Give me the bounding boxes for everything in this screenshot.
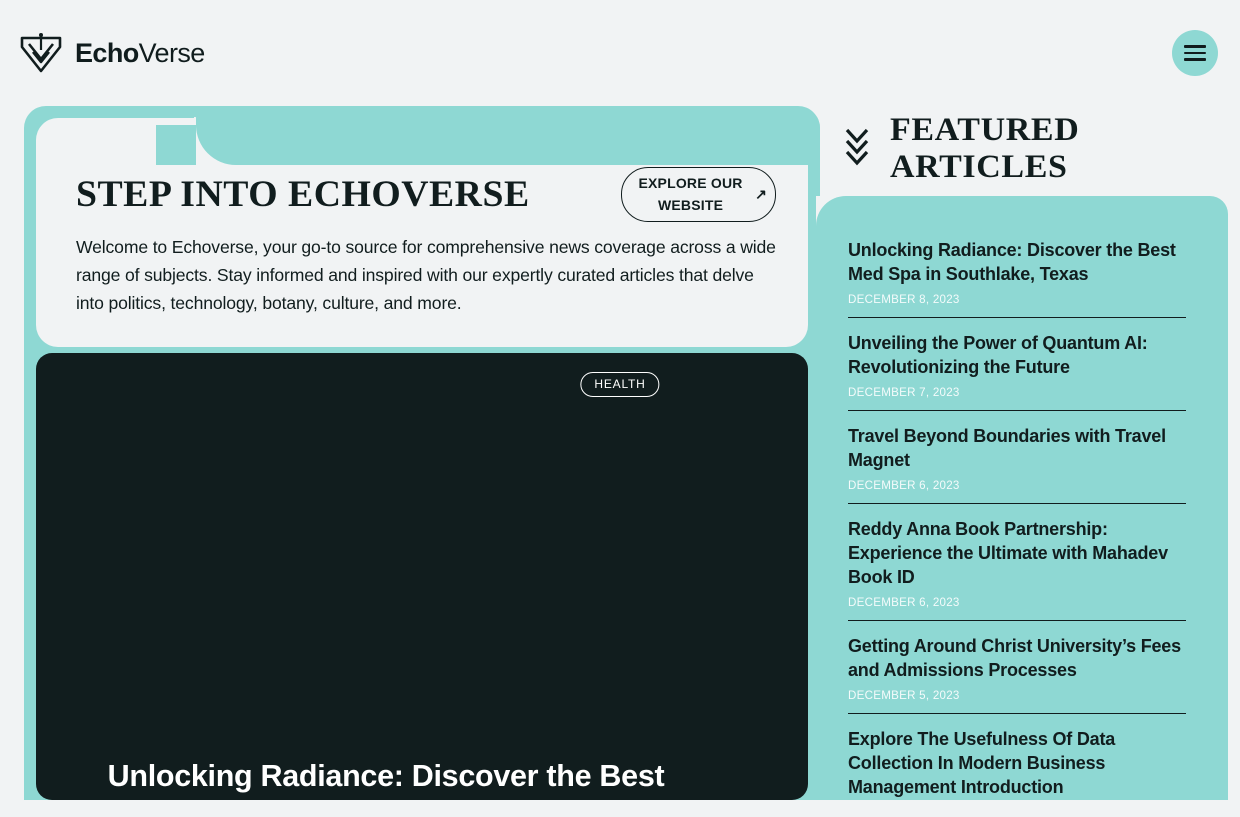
brand-text-strong: Echo [75,38,139,68]
article-date: DECEMBER 6, 2023 [848,479,1186,492]
brand-text: EchoVerse [75,40,205,67]
article-date: DECEMBER 7, 2023 [848,386,1186,399]
article-title[interactable]: Unlocking Radiance: Discover the Best Me… [848,238,1186,286]
brand-logo[interactable]: EchoVerse [18,30,205,76]
page-title: STEP INTO ECHOVERSE [76,176,530,213]
list-item[interactable]: Unlocking Radiance: Discover the Best Me… [848,236,1186,317]
article-title[interactable]: Reddy Anna Book Partnership: Experience … [848,517,1186,589]
article-date: DECEMBER 8, 2023 [848,293,1186,306]
article-title[interactable]: Travel Beyond Boundaries with Travel Mag… [848,424,1186,472]
featured-articles-title: FEATURED ARTICLES [890,112,1079,186]
list-item[interactable]: Getting Around Christ University’s Fees … [848,620,1186,713]
list-item[interactable]: Unveiling the Power of Quantum AI: Revol… [848,317,1186,410]
featured-articles-heading: FEATURED ARTICLES [844,112,1074,186]
hero-description: Welcome to Echoverse, your go-to source … [76,233,776,317]
hamburger-line [1184,45,1206,48]
page-root: EchoVerse STEP INTO ECHOVERSE EXPLORE OU… [0,0,1240,800]
arrow-up-right-icon: ↗ [755,184,767,206]
explore-website-button[interactable]: EXPLORE OUR WEBSITE↗ [621,167,776,222]
hero-title-row: STEP INTO ECHOVERSE EXPLORE OUR WEBSITE↗ [76,176,776,222]
article-title[interactable]: Unveiling the Power of Quantum AI: Revol… [848,331,1186,379]
feature-article-card[interactable] [36,353,808,800]
article-title[interactable]: Explore The Usefulness Of Data Collectio… [848,727,1186,799]
list-item[interactable]: Explore The Usefulness Of Data Collectio… [848,713,1186,817]
featured-articles-list: Unlocking Radiance: Discover the Best Me… [848,236,1186,817]
explore-website-label: EXPLORE OUR WEBSITE [630,173,751,216]
shield-chevron-logo-icon [18,30,64,76]
list-item[interactable]: Reddy Anna Book Partnership: Experience … [848,503,1186,620]
hamburger-icon[interactable] [1172,30,1218,76]
hamburger-line [1184,58,1206,61]
featured-heading-line-1: FEATURED [890,112,1079,148]
article-date: DECEMBER 5, 2023 [848,689,1186,702]
hero-content: STEP INTO ECHOVERSE EXPLORE OUR WEBSITE↗… [36,118,808,347]
brand-text-light: Verse [139,38,205,68]
list-item[interactable]: Travel Beyond Boundaries with Travel Mag… [848,410,1186,503]
featured-articles-panel: Unlocking Radiance: Discover the Best Me… [816,196,1228,800]
article-date: DECEMBER 6, 2023 [848,596,1186,609]
double-chevron-down-icon [844,124,870,166]
hamburger-line [1184,52,1206,55]
article-title[interactable]: Getting Around Christ University’s Fees … [848,634,1186,682]
site-header: EchoVerse [0,0,1240,106]
featured-heading-line-2: ARTICLES [890,149,1068,185]
category-badge: HEALTH [580,372,659,397]
feature-article-title: Unlocking Radiance: Discover the Best [0,757,772,795]
hero-panel: STEP INTO ECHOVERSE EXPLORE OUR WEBSITE↗… [36,118,808,347]
